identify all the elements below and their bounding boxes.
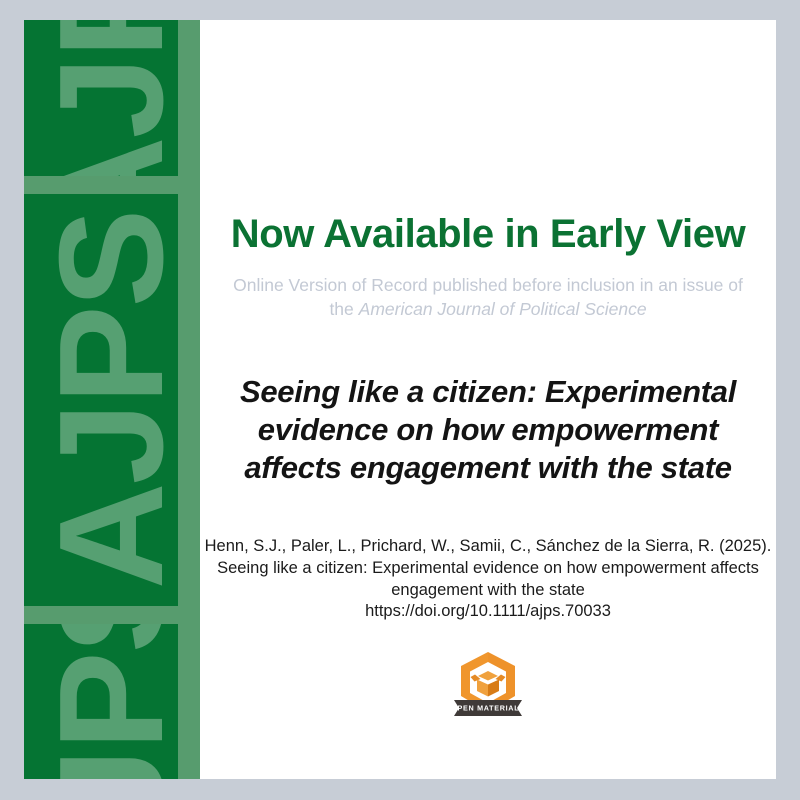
announcement-content: Now Available in Early View Online Versi… [200, 20, 776, 779]
citation-block: Henn, S.J., Paler, L., Prichard, W., Sam… [204, 536, 772, 623]
ajps-brand-rail-stack: AJPS AJPS AJPS [24, 20, 200, 779]
citation-authors: Henn, S.J., Paler, L., Prichard, W., Sam… [204, 536, 772, 558]
rail-block-1: AJPS [24, 20, 200, 176]
headline: Now Available in Early View [214, 212, 762, 256]
rail-edge-stripe [178, 20, 200, 779]
open-materials-badge-graphic: OPEN MATERIALS [451, 650, 525, 722]
citation-title: Seeing like a citizen: Experimental evid… [204, 558, 772, 602]
rail-block-3: AJPS [24, 624, 200, 779]
subheadline: Online Version of Record published befor… [222, 273, 754, 321]
ajps-wordmark: AJPS [38, 624, 186, 779]
rail-divider-1 [24, 176, 200, 194]
citation-doi-link[interactable]: https://doi.org/10.1111/ajps.70033 [204, 601, 772, 623]
ajps-wordmark: AJPS [38, 20, 186, 176]
ajps-brand-rail: AJPS AJPS AJPS [24, 20, 200, 779]
journal-name: American Journal of Political Science [359, 299, 647, 319]
ajps-wordmark: AJPS [38, 211, 186, 590]
article-title: Seeing like a citizen: Experimental evid… [210, 373, 766, 486]
announcement-card: AJPS AJPS AJPS Now Available in Early Vi… [24, 20, 776, 779]
badge-ribbon-label: OPEN MATERIALS [451, 704, 525, 713]
rail-block-2: AJPS [24, 194, 200, 606]
badge-container: OPEN MATERIALS [200, 650, 776, 722]
rail-divider-2 [24, 606, 200, 624]
open-materials-badge[interactable]: OPEN MATERIALS [451, 650, 525, 722]
